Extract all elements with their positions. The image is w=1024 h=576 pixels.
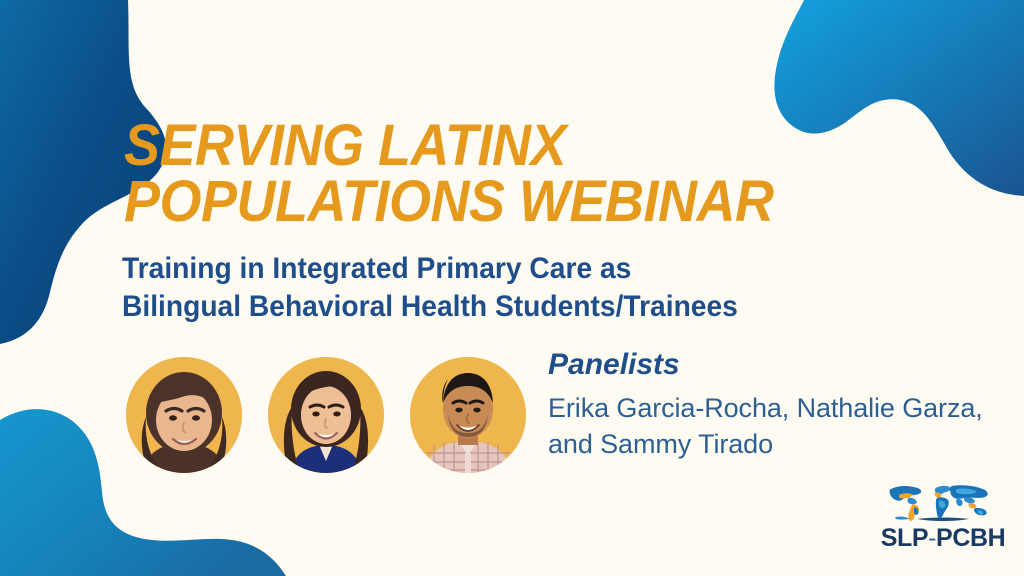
avatar: [410, 357, 526, 473]
panelists-names: Erika Garcia-Rocha, Nathalie Garza, and …: [548, 391, 988, 462]
page-title: SERVING LATINX POPULATIONS WEBINAR: [124, 118, 914, 231]
logo-text-dash: -: [928, 524, 936, 552]
title-line-1: SERVING LATINX: [124, 118, 859, 174]
subtitle-line-1: Training in Integrated Primary Care as: [122, 250, 893, 288]
page-subtitle: Training in Integrated Primary Care as B…: [122, 250, 942, 327]
panelist-avatar-group: [126, 357, 526, 473]
webinar-promo-slide: SERVING LATINX POPULATIONS WEBINAR Train…: [0, 0, 1024, 576]
panelists-section: Panelists Erika Garcia-Rocha, Nathalie G…: [548, 348, 988, 462]
title-line-2: POPULATIONS WEBINAR: [124, 174, 859, 230]
subtitle-line-2: Bilingual Behavioral Health Students/Tra…: [122, 288, 893, 326]
panelists-heading: Panelists: [548, 348, 988, 381]
logo-text-secondary: PCBH: [936, 524, 1005, 552]
logo-wordmark: SLP-PCBH: [872, 524, 1014, 553]
avatar: [268, 357, 384, 473]
avatar: [126, 357, 242, 473]
slp-pcbh-logo: SLP-PCBH: [872, 478, 1014, 556]
logo-text-primary: SLP: [881, 524, 928, 552]
world-map-icon: [880, 478, 1006, 523]
